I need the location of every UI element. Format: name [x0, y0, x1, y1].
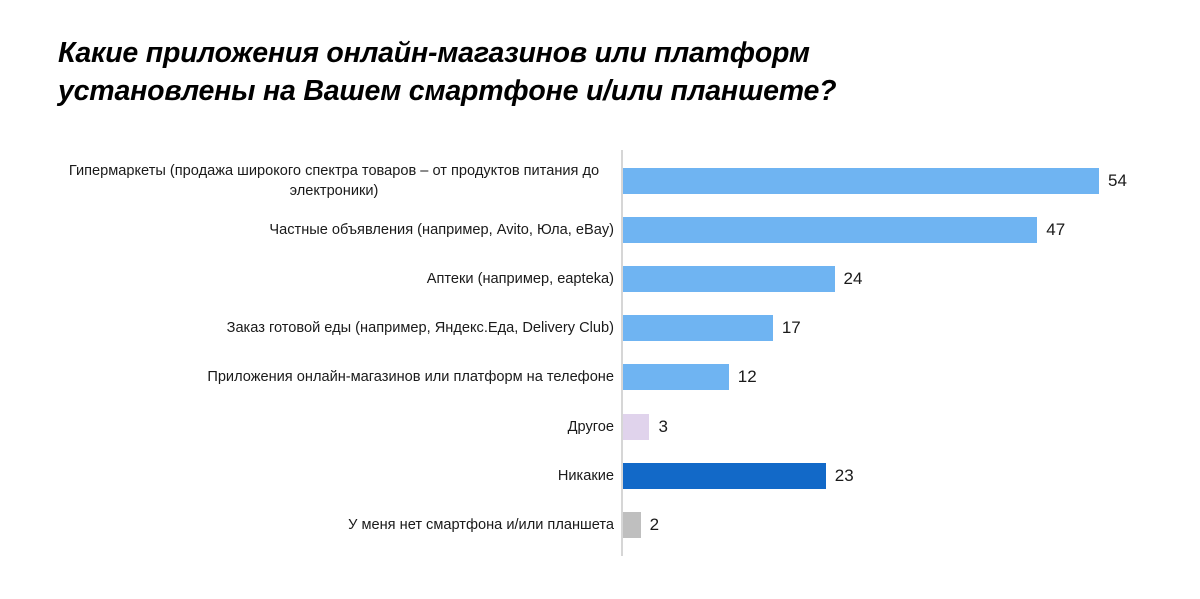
- category-label: Приложения онлайн-магазинов или платформ…: [54, 367, 614, 387]
- category-label: Заказ готовой еды (например, Яндекс.Еда,…: [54, 318, 614, 338]
- bar-row: Другое3: [0, 402, 1200, 451]
- bar-value-label: 2: [650, 512, 659, 538]
- bar-row: Аптеки (например, eapteka)24: [0, 254, 1200, 303]
- bar[interactable]: [623, 414, 649, 440]
- bar-track: 12: [623, 364, 757, 390]
- bar[interactable]: [623, 512, 641, 538]
- bar-value-label: 12: [738, 364, 757, 390]
- bar-row: Заказ готовой еды (например, Яндекс.Еда,…: [0, 304, 1200, 353]
- bar-row: У меня нет смартфона и/или планшета2: [0, 500, 1200, 549]
- category-label: Гипермаркеты (продажа широкого спектра т…: [54, 161, 614, 201]
- category-label: Другое: [54, 417, 614, 437]
- bar[interactable]: [623, 266, 835, 292]
- bar-track: 2: [623, 512, 659, 538]
- bar-track: 17: [623, 315, 801, 341]
- bar-value-label: 3: [658, 414, 667, 440]
- bar-value-label: 24: [844, 266, 863, 292]
- bar-track: 3: [623, 414, 668, 440]
- bar-row: Частные объявления (например, Avito, Юла…: [0, 205, 1200, 254]
- bar-track: 47: [623, 217, 1065, 243]
- chart-page: Какие приложения онлайн-магазинов или пл…: [0, 0, 1200, 599]
- bar-row: Приложения онлайн-магазинов или платформ…: [0, 353, 1200, 402]
- plot-area: Гипермаркеты (продажа широкого спектра т…: [0, 0, 1200, 599]
- bar-value-label: 47: [1046, 217, 1065, 243]
- bar-track: 24: [623, 266, 862, 292]
- bar-value-label: 54: [1108, 168, 1127, 194]
- category-label: У меня нет смартфона и/или планшета: [54, 515, 614, 535]
- bar-row: Никакие23: [0, 451, 1200, 500]
- category-label: Частные объявления (например, Avito, Юла…: [54, 220, 614, 240]
- bar[interactable]: [623, 364, 729, 390]
- bar-value-label: 23: [835, 463, 854, 489]
- bar-value-label: 17: [782, 315, 801, 341]
- category-label: Аптеки (например, eapteka): [54, 269, 614, 289]
- bar[interactable]: [623, 315, 773, 341]
- bar-row: Гипермаркеты (продажа широкого спектра т…: [0, 156, 1200, 205]
- bar-track: 54: [623, 168, 1127, 194]
- category-label: Никакие: [54, 466, 614, 486]
- bar[interactable]: [623, 217, 1037, 243]
- bar[interactable]: [623, 463, 826, 489]
- bar-track: 23: [623, 463, 854, 489]
- bar[interactable]: [623, 168, 1099, 194]
